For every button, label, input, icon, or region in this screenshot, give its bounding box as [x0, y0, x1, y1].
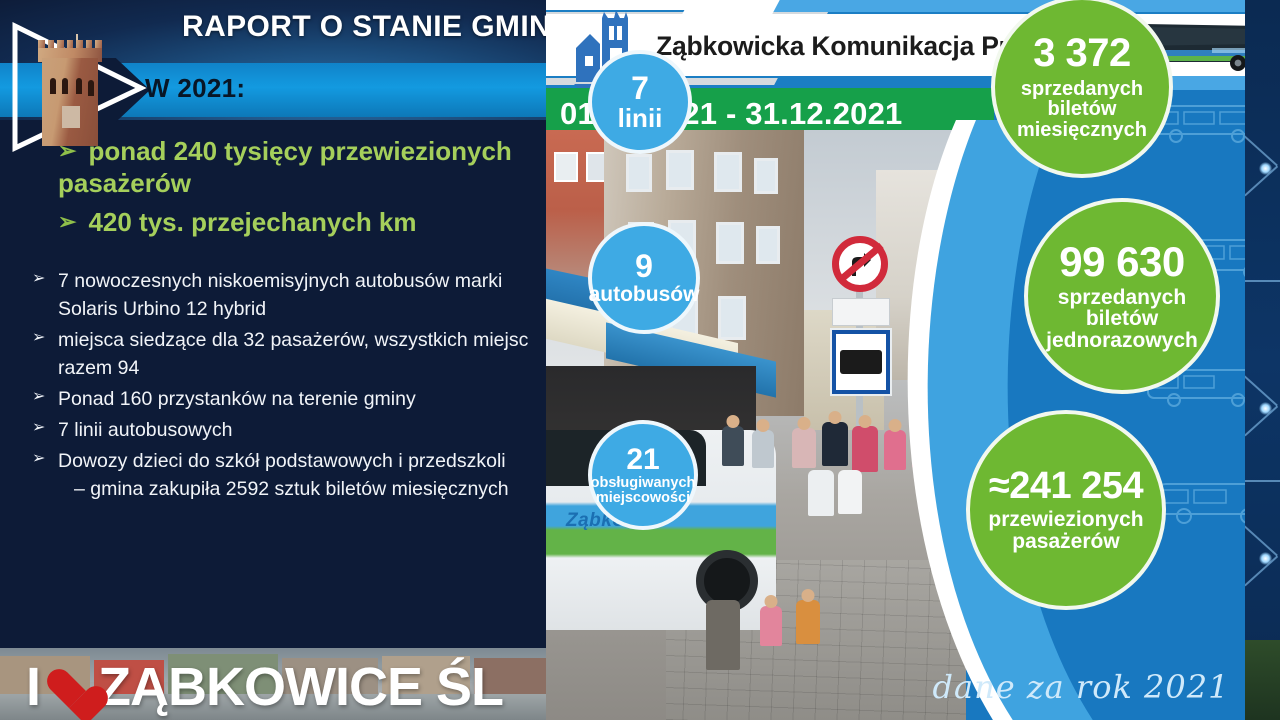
left-report-panel: RAPORT O STANIE GMINY W 2021: ➢pon	[0, 0, 546, 720]
pedestrian	[722, 426, 744, 466]
list-item: ➢ miejsca siedzące dla 32 pasażerów, wsz…	[28, 327, 540, 382]
chevron-right-icon: ➢	[32, 327, 45, 350]
pedestrian	[838, 470, 862, 514]
letter-i: I	[26, 656, 40, 718]
pedestrian	[792, 428, 816, 468]
highlight-item: ➢ponad 240 tysięcy przewiezionych pasaże…	[58, 136, 528, 199]
triangle-frame-icon	[8, 18, 148, 154]
list-item: ➢ 7 linii autobusowych	[28, 417, 540, 445]
stat-circle-monthly-tickets: 3 372 sprzedanych biletów miesięcznych	[991, 0, 1173, 178]
page-title: RAPORT O STANIE GMINY	[150, 6, 546, 48]
list-item: ➢ Dowozy dzieci do szkół podstawowych i …	[28, 448, 540, 503]
pedestrian	[760, 606, 782, 646]
list-item: ➢ 7 nowoczesnych niskoemisyjnych autobus…	[28, 268, 540, 323]
detail-list: ➢ 7 nowoczesnych niskoemisyjnych autobus…	[28, 268, 540, 507]
footer-note: dane za rok 2021	[906, 668, 1256, 706]
chevron-right-icon: ➢	[32, 268, 45, 291]
chevron-right-icon: ➢	[32, 448, 45, 471]
stat-circle-lines: 7 linii	[588, 50, 692, 154]
castle-tower-icon	[32, 34, 108, 146]
town-name-letters: ZĄBKOWICE ŚL	[98, 656, 503, 718]
stat-circle-single-tickets: 99 630 sprzedanych biletów jednorazowych	[1024, 198, 1220, 394]
i-love-town-letters: I ZĄBKOWICE ŚL	[26, 654, 503, 718]
pedestrian	[796, 600, 820, 644]
chevron-right-icon: ➢	[32, 417, 45, 440]
highlight-item: ➢420 tys. przejechanych km	[58, 207, 528, 239]
list-item: ➢ Ponad 160 przystanków na terenie gminy	[28, 386, 540, 414]
chevron-right-icon: ➢	[58, 209, 76, 236]
stat-circle-buses: 9 autobusów	[588, 222, 700, 334]
street-bollard	[706, 600, 740, 670]
pedestrian	[808, 470, 834, 516]
pedestrian	[822, 422, 848, 466]
year-label: W 2021:	[145, 73, 245, 104]
pedestrian	[852, 426, 878, 472]
chevron-right-icon: ➢	[32, 386, 45, 409]
stat-circle-localities: 21 obsługiwanych miejscowości	[588, 420, 698, 530]
pedestrian	[752, 430, 774, 468]
decorative-network-strip	[1245, 0, 1280, 720]
slide-canvas: RAPORT O STANIE GMINY W 2021: ➢pon	[0, 0, 1280, 720]
town-sign-photo: I ZĄBKOWICE ŚL	[0, 648, 546, 720]
right-infographic-panel: Ząbkowicka Komunikacja Publiczna 01.01.2…	[546, 0, 1280, 720]
chevron-right-icon: ➢	[58, 138, 76, 165]
heart-icon	[46, 670, 92, 714]
stat-circle-passengers: ≈241 254 przewiezionych pasażerów	[966, 410, 1166, 610]
